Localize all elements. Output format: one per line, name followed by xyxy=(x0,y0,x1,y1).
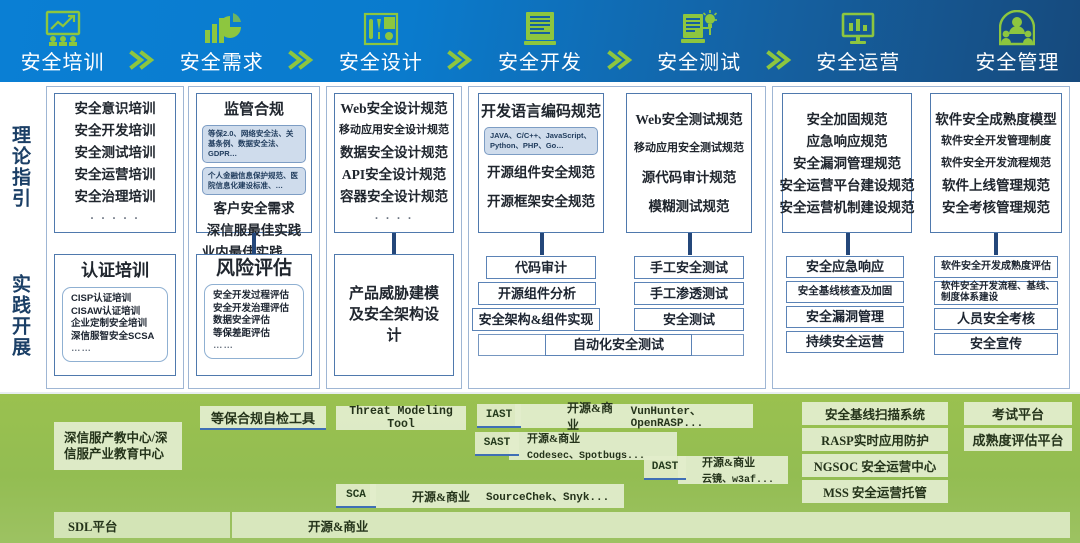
monitor-dashboard-icon xyxy=(839,6,877,46)
theory-item-ellipsis: · · · · · xyxy=(90,211,140,226)
theory-item: 软件安全开发管理制度 xyxy=(941,134,1051,149)
tool-baseline-scan-system[interactable]: 安全基线扫描系统 xyxy=(802,402,948,425)
lifecycle-header: 安全培训 安全需求 xyxy=(0,0,1080,82)
risk-assessment-list: 安全开发过程评估 安全开发治理评估 数据安全评估 等保差距评估 …… xyxy=(204,284,304,359)
theory-item: 源代码审计规范 xyxy=(642,170,737,185)
list-item: 企业定制安全培训 xyxy=(71,318,159,331)
list-item: 安全开发过程评估 xyxy=(213,290,295,303)
card-title: 产品威胁建模及安全架构设计 xyxy=(346,284,442,347)
theory-item-ellipsis: · · · · xyxy=(374,211,413,226)
practice-box-continuous-ops: 持续安全运营 xyxy=(786,331,904,353)
theory-item: 安全漏洞管理规范 xyxy=(793,156,901,171)
connector-design xyxy=(392,233,396,255)
theory-item: 移动应用安全设计规范 xyxy=(339,123,449,138)
double-chevron-right-icon xyxy=(762,0,796,78)
sdl-lifecycle-diagram: 安全培训 安全需求 xyxy=(0,0,1080,541)
practice-box-automated-testing: 自动化安全测试 xyxy=(545,334,692,356)
theory-item: 容器安全设计规范 xyxy=(340,189,448,204)
regulation-chip: 个人金融信息保护规范、医院信息化建设标准、… xyxy=(202,167,306,195)
dast-products: 云镜、w3af... xyxy=(702,470,774,486)
iast-products: VunHunter、OpenRASP... xyxy=(631,402,753,430)
stage-security-testing[interactable]: 安全测试 xyxy=(637,0,762,78)
stage-security-training[interactable]: 安全培训 xyxy=(0,0,125,78)
regulation-chip: 等保2.0、网络安全法、关基条例、数据安全法、GDPR… xyxy=(202,125,306,163)
card-title: 开发语言编码规范 xyxy=(481,102,601,122)
card-management-theory: 软件安全成熟度模型 软件安全开发管理制度 软件安全开发流程规范 软件上线管理规范… xyxy=(930,93,1062,233)
sast-products: Codesec、Spotbugs... xyxy=(527,446,645,462)
tool-sca-panel[interactable]: 开源&商业 SourceChek、Snyk... xyxy=(370,484,624,508)
certification-list: CISP认证培训 CISAW认证培训 企业定制安全培训 深信服智安全SCSA …… xyxy=(62,287,168,362)
practice-box-oss-analysis: 开源组件分析 xyxy=(478,282,596,305)
double-chevron-right-icon xyxy=(125,0,159,78)
practice-box-manual-sec-test: 手工安全测试 xyxy=(634,256,744,279)
theory-item: 模糊测试规范 xyxy=(649,199,730,214)
training-presentation-icon xyxy=(44,6,82,46)
stage-label: 安全测试 xyxy=(657,48,741,78)
practice-box-secure-arch: 安全架构&组件实现 xyxy=(472,308,600,331)
stage-security-design[interactable]: 安全设计 xyxy=(318,0,443,78)
theory-item: 安全运营机制建设规范 xyxy=(780,200,915,215)
practice-box-manual-pentest: 手工渗透测试 xyxy=(634,282,744,305)
rail-practice-execution: 实践开展 xyxy=(4,248,34,383)
tool-compliance-self-check[interactable]: 等保合规自检工具 xyxy=(200,406,326,430)
double-chevron-right-icon xyxy=(603,0,637,78)
stage-label: 安全需求 xyxy=(180,48,264,78)
card-develop-theory: 开发语言编码规范 JAVA、C/C++、JavaScript、Python、PH… xyxy=(478,93,604,233)
stage-label: 安全培训 xyxy=(21,48,105,78)
stage-security-management[interactable]: 安全管理 xyxy=(955,0,1080,78)
dast-source: 开源&商业 xyxy=(702,454,755,470)
stage-label: 安全开发 xyxy=(498,48,582,78)
theory-item: 开源框架安全规范 xyxy=(487,194,595,209)
theory-item: 应急响应规范 xyxy=(807,134,888,149)
rail-label: 理论指引 xyxy=(8,125,30,209)
stage-label: 安全运营 xyxy=(816,48,900,78)
card-operation-theory: 安全加固规范 应急响应规范 安全漏洞管理规范 安全运营平台建设规范 安全运营机制… xyxy=(782,93,912,233)
theory-item: 客户安全需求 xyxy=(214,201,295,216)
card-requirement-practice: 风险评估 安全开发过程评估 安全开发治理评估 数据安全评估 等保差距评估 …… xyxy=(196,254,312,376)
practice-box-code-audit: 代码审计 xyxy=(486,256,596,279)
double-chevron-right-icon xyxy=(284,0,318,78)
theory-item: 安全考核管理规范 xyxy=(942,200,1050,215)
theory-item: 安全运营平台建设规范 xyxy=(780,178,915,193)
card-title: 监管合规 xyxy=(224,100,284,120)
theory-item: API安全设计规范 xyxy=(342,167,446,182)
code-document-icon xyxy=(523,6,557,46)
chart-pie-bar-icon xyxy=(203,6,241,46)
list-item: 数据安全评估 xyxy=(213,315,295,328)
theory-item: 安全加固规范 xyxy=(807,112,888,127)
tools-support-section: 深信服产教中心/深信服产业教育中心 等保合规自检工具 Threat Modeli… xyxy=(0,392,1080,543)
theory-item: 开源组件安全规范 xyxy=(487,165,595,180)
chevron-spacer xyxy=(921,0,955,78)
connector-develop xyxy=(540,233,544,255)
practice-box-security-test: 安全测试 xyxy=(634,308,744,331)
blueprint-design-icon xyxy=(363,6,399,46)
card-requirement-theory: 监管合规 等保2.0、网络安全法、关基条例、数据安全法、GDPR… 个人金融信息… xyxy=(196,93,312,233)
tool-mss[interactable]: MSS 安全运营托管 xyxy=(802,480,948,503)
connector-requirement xyxy=(252,233,256,255)
list-item: 等保差距评估 xyxy=(213,328,295,341)
list-item: CISAW认证培训 xyxy=(71,306,159,319)
double-chevron-right-icon xyxy=(443,0,477,78)
stage-security-operation[interactable]: 安全运营 xyxy=(796,0,921,78)
tool-iast-panel[interactable]: 开源&商业 VunHunter、OpenRASP... xyxy=(515,404,753,428)
tool-rasp-protection[interactable]: RASP实时应用防护 xyxy=(802,428,948,451)
theory-item: 数据安全设计规范 xyxy=(340,145,448,160)
tag-iast[interactable]: IAST xyxy=(477,404,521,428)
tag-sca[interactable]: SCA xyxy=(336,484,376,508)
stage-label: 安全管理 xyxy=(975,48,1059,78)
card-design-practice: 产品威胁建模及安全架构设计 xyxy=(334,254,454,376)
list-item: 深信服智安全SCSA xyxy=(71,331,159,344)
theory-item: 软件安全开发流程规范 xyxy=(941,156,1051,171)
stage-security-development[interactable]: 安全开发 xyxy=(477,0,602,78)
theory-item: Web安全测试规范 xyxy=(635,112,742,127)
list-item-ellipsis: …… xyxy=(71,343,159,356)
practice-box-maturity-assessment: 软件安全开发成熟度评估 xyxy=(934,256,1058,278)
theory-item: Web安全设计规范 xyxy=(340,101,447,116)
tag-sast[interactable]: SAST xyxy=(475,432,519,456)
tag-dast[interactable]: DAST xyxy=(644,456,686,480)
tool-threat-modeling[interactable]: Threat Modeling Tool xyxy=(336,406,466,430)
theory-item: 安全测试培训 xyxy=(75,145,156,160)
footer-sdl-platform[interactable]: SDL平台 xyxy=(54,512,230,538)
tool-dast-panel[interactable]: 开源&商业 云镜、w3af... xyxy=(678,456,788,484)
practice-box-process-baseline: 软件安全开发流程、基线、制度体系建设 xyxy=(934,281,1058,305)
theory-item: 软件安全成熟度模型 xyxy=(935,112,1057,127)
rail-label: 实践开展 xyxy=(8,274,30,358)
list-item: 安全开发治理评估 xyxy=(213,303,295,316)
lifecycle-body: 安全意识培训 安全开发培训 安全测试培训 安全运营培训 安全治理培训 · · ·… xyxy=(36,86,1078,391)
theory-item: 移动应用安全测试规范 xyxy=(634,141,744,156)
practice-box-baseline-check: 安全基线核查及加固 xyxy=(786,281,904,303)
list-item: CISP认证培训 xyxy=(71,293,159,306)
iast-source: 开源&商业 xyxy=(567,399,617,433)
card-design-theory: Web安全设计规范 移动应用安全设计规范 数据安全设计规范 API安全设计规范 … xyxy=(334,93,454,233)
theory-item: 软件上线管理规范 xyxy=(942,178,1050,193)
theory-item: 安全运营培训 xyxy=(75,167,156,182)
practice-box-security-awareness: 安全宣传 xyxy=(934,333,1058,355)
connector-operation xyxy=(846,233,850,255)
card-title: 风险评估 xyxy=(216,259,292,279)
tool-maturity-platform[interactable]: 成熟度评估平台 xyxy=(964,428,1072,451)
sca-products: SourceChek、Snyk... xyxy=(486,488,609,504)
tool-exam-platform[interactable]: 考试平台 xyxy=(964,402,1072,425)
card-title: 认证培训 xyxy=(81,261,149,281)
rail-theory-guidance: 理论指引 xyxy=(4,92,34,242)
practice-box-personnel-assessment: 人员安全考核 xyxy=(934,308,1058,330)
language-chip: JAVA、C/C++、JavaScript、Python、PHP、Go… xyxy=(484,127,598,155)
stage-label: 安全设计 xyxy=(339,48,423,78)
card-training-practice: 认证培训 CISP认证培训 CISAW认证培训 企业定制安全培训 深信服智安全S… xyxy=(54,254,176,376)
footer-open-source-commercial[interactable]: 开源&商业 xyxy=(232,512,1070,538)
connector-management xyxy=(994,233,998,255)
card-training-theory: 安全意识培训 安全开发培训 安全测试培训 安全运营培训 安全治理培训 · · ·… xyxy=(54,93,176,233)
theory-item: 安全意识培训 xyxy=(75,101,156,116)
practice-box-vuln-management: 安全漏洞管理 xyxy=(786,306,904,328)
list-item-ellipsis: …… xyxy=(213,340,295,353)
card-test-theory: Web安全测试规范 移动应用安全测试规范 源代码审计规范 模糊测试规范 xyxy=(626,93,752,233)
tool-ngsoc[interactable]: NGSOC 安全运营中心 xyxy=(802,454,948,477)
sca-source: 开源&商业 xyxy=(412,488,470,505)
tool-education-center[interactable]: 深信服产教中心/深信服产业教育中心 xyxy=(54,422,182,470)
practice-box-incident-response: 安全应急响应 xyxy=(786,256,904,278)
theory-item: 安全开发培训 xyxy=(75,123,156,138)
connector-test xyxy=(688,233,692,255)
test-lightbulb-icon xyxy=(680,6,718,46)
stage-security-requirement[interactable]: 安全需求 xyxy=(159,0,284,78)
sast-source: 开源&商业 xyxy=(527,430,580,446)
people-management-icon xyxy=(999,6,1035,46)
theory-item: 安全治理培训 xyxy=(75,189,156,204)
